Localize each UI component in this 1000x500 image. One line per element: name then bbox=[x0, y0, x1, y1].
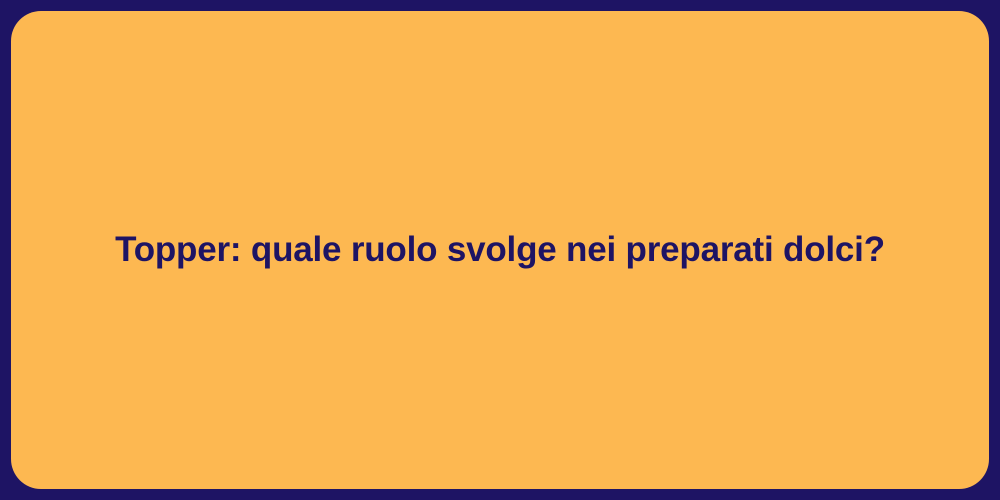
page-title: Topper: quale ruolo svolge nei preparati… bbox=[51, 228, 949, 272]
page-background: Topper: quale ruolo svolge nei preparati… bbox=[0, 0, 1000, 500]
title-block: Topper: quale ruolo svolge nei preparati… bbox=[11, 228, 989, 272]
content-card: Topper: quale ruolo svolge nei preparati… bbox=[11, 11, 989, 489]
